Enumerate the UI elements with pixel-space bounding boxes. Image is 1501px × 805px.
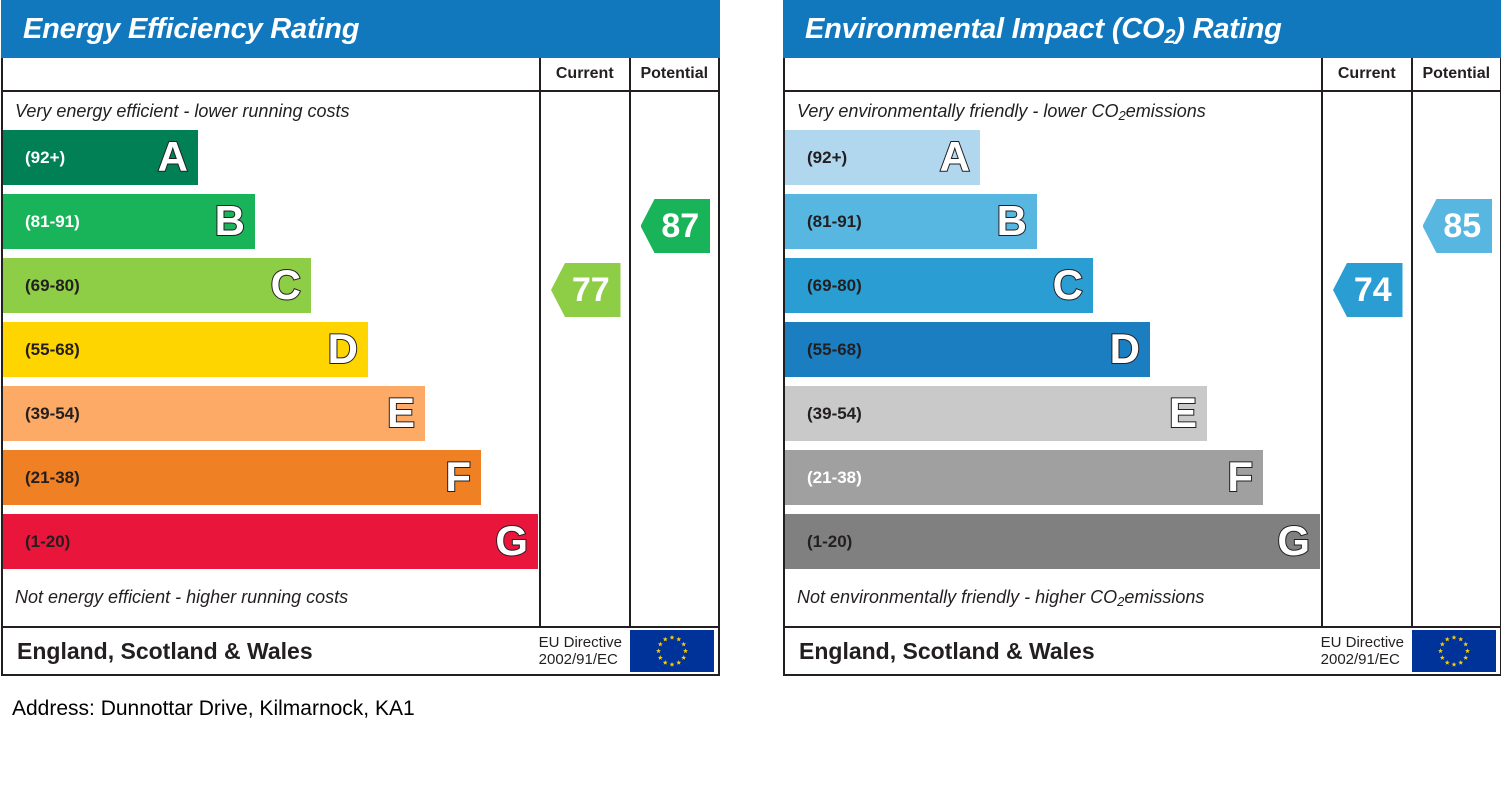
environmental-impact-title-bar: Environmental Impact (CO2) Rating: [783, 0, 1501, 58]
band-range-label: (81-91): [807, 212, 862, 232]
bar-band-b: (81-91)B: [3, 194, 255, 249]
potential-rating-arrow: 85: [1423, 199, 1493, 253]
band-letter-e: E: [387, 392, 415, 434]
bar-band-c: (69-80)C: [785, 258, 1093, 313]
eu-directive-line2: 2002/91/EC: [539, 651, 618, 668]
energy-efficiency-frame: Current Potential Very energy efficient …: [1, 58, 720, 676]
current-rating-arrow: 77: [551, 263, 621, 317]
band-range-label: (69-80): [25, 276, 80, 296]
bar-band-c: (69-80)C: [3, 258, 311, 313]
eu-directive-line1: EU Directive: [1321, 634, 1404, 651]
environmental-body: Very environmentally friendly - lower CO…: [785, 92, 1500, 672]
potential-rating-arrow: 87: [641, 199, 711, 253]
band-letter-e: E: [1169, 392, 1197, 434]
environmental-region-label: England, Scotland & Wales: [799, 638, 1321, 665]
bar-band-e: (39-54)E: [3, 386, 425, 441]
bar-band-d: (55-68)D: [3, 322, 368, 377]
eu-directive-line2: 2002/91/EC: [1321, 651, 1400, 668]
band-letter-c: C: [271, 264, 301, 306]
energy-bottom-caption: Not energy efficient - higher running co…: [3, 578, 539, 616]
environmental-bottom-caption: Not environmentally friendly - higher CO…: [785, 578, 1321, 616]
header-potential-energy: Potential: [631, 58, 719, 90]
band-letter-d: D: [1110, 328, 1140, 370]
band-letter-g: G: [495, 520, 528, 562]
header-current-energy: Current: [541, 58, 631, 90]
band-range-label: (1-20): [25, 532, 70, 552]
environmental-top-caption: Very environmentally friendly - lower CO…: [785, 92, 1321, 130]
energy-body: Very energy efficient - lower running co…: [3, 92, 718, 672]
band-range-label: (69-80): [807, 276, 862, 296]
band-range-label: (1-20): [807, 532, 852, 552]
bar-band-a: (92+)A: [785, 130, 980, 185]
band-range-label: (21-38): [25, 468, 80, 488]
bar-band-g: (1-20)G: [3, 514, 538, 569]
energy-current-column: 77: [541, 92, 631, 672]
band-letter-f: F: [445, 456, 471, 498]
band-range-label: (21-38): [807, 468, 862, 488]
page-title-energy: Energy Efficiency Rating: [23, 13, 359, 46]
bar-band-f: (21-38)F: [3, 450, 481, 505]
band-letter-d: D: [328, 328, 358, 370]
energy-region-label: England, Scotland & Wales: [17, 638, 539, 665]
environmental-column-headers: Current Potential: [785, 58, 1500, 92]
energy-top-caption: Very energy efficient - lower running co…: [3, 92, 539, 130]
environmental-footer: England, Scotland & Wales EU Directive 2…: [783, 626, 1501, 676]
energy-efficiency-panel: Energy Efficiency Rating Current Potenti…: [1, 0, 720, 676]
bar-band-e: (39-54)E: [785, 386, 1207, 441]
property-address: Address: Dunnottar Drive, Kilmarnock, KA…: [12, 697, 415, 721]
bar-band-a: (92+)A: [3, 130, 198, 185]
band-range-label: (92+): [807, 148, 847, 168]
energy-column-headers: Current Potential: [3, 58, 718, 92]
band-range-label: (55-68): [25, 340, 80, 360]
band-range-label: (81-91): [25, 212, 80, 232]
energy-bars-column: Very energy efficient - lower running co…: [3, 92, 541, 672]
energy-efficiency-title-bar: Energy Efficiency Rating: [1, 0, 720, 58]
band-letter-c: C: [1053, 264, 1083, 306]
bar-band-d: (55-68)D: [785, 322, 1150, 377]
environmental-current-column: 74: [1323, 92, 1413, 672]
energy-eu-directive-text: EU Directive 2002/91/EC: [539, 634, 622, 669]
band-letter-a: A: [158, 136, 188, 178]
band-letter-f: F: [1227, 456, 1253, 498]
environmental-bar-list: (92+)A(81-91)B(69-80)C(55-68)D(39-54)E(2…: [785, 130, 1321, 578]
eu-directive-line1: EU Directive: [539, 634, 622, 651]
environmental-impact-frame: Current Potential Very environmentally f…: [783, 58, 1501, 676]
header-current-environmental: Current: [1323, 58, 1413, 90]
header-potential-environmental: Potential: [1413, 58, 1501, 90]
bar-band-f: (21-38)F: [785, 450, 1263, 505]
band-letter-b: B: [215, 200, 245, 242]
energy-footer: England, Scotland & Wales EU Directive 2…: [1, 626, 720, 676]
energy-bar-list: (92+)A(81-91)B(69-80)C(55-68)D(39-54)E(2…: [3, 130, 539, 578]
epc-report: Energy Efficiency Rating Current Potenti…: [0, 0, 1501, 805]
header-spacer: [3, 58, 541, 90]
environmental-impact-panel: Environmental Impact (CO2) Rating Curren…: [783, 0, 1501, 676]
band-range-label: (55-68): [807, 340, 862, 360]
band-letter-g: G: [1277, 520, 1310, 562]
environmental-bars-column: Very environmentally friendly - lower CO…: [785, 92, 1323, 672]
band-letter-a: A: [940, 136, 970, 178]
page-title-environmental: Environmental Impact (CO2) Rating: [805, 13, 1282, 46]
band-range-label: (92+): [25, 148, 65, 168]
bar-band-b: (81-91)B: [785, 194, 1037, 249]
band-range-label: (39-54): [807, 404, 862, 424]
band-letter-b: B: [997, 200, 1027, 242]
energy-potential-column: 87: [631, 92, 719, 672]
band-range-label: (39-54): [25, 404, 80, 424]
bar-band-g: (1-20)G: [785, 514, 1320, 569]
environmental-eu-directive-text: EU Directive 2002/91/EC: [1321, 634, 1404, 669]
environmental-potential-column: 85: [1413, 92, 1501, 672]
header-spacer: [785, 58, 1323, 90]
eu-flag-icon: [1412, 630, 1496, 672]
current-rating-arrow: 74: [1333, 263, 1403, 317]
eu-flag-icon: [630, 630, 714, 672]
